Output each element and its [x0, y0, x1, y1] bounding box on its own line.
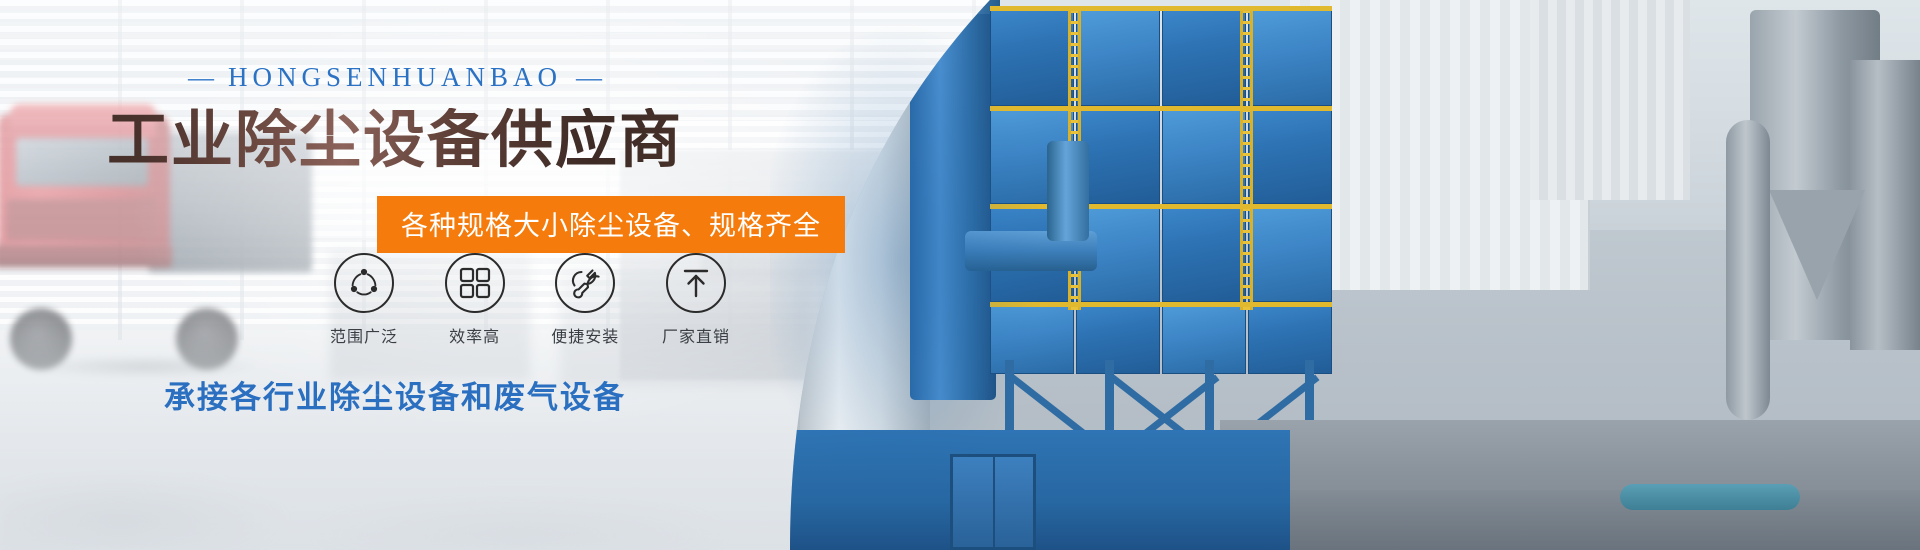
up-arrow-icon [666, 253, 726, 313]
feature-label: 厂家直销 [650, 323, 742, 347]
wrench-icon [555, 253, 615, 313]
brand-eyebrow-text: HONGSENHUANBAO [228, 62, 562, 92]
filter-box [1162, 206, 1246, 302]
feature-list: 范围广泛 效率高 [318, 253, 742, 347]
dash-right-icon: — [562, 63, 616, 92]
feature-item-factory-direct[interactable]: 厂家直销 [650, 253, 742, 347]
concrete-apron-shade [1220, 490, 1920, 550]
grid-squares-icon [445, 253, 505, 313]
brand-eyebrow: —HONGSENHUANBAO— [0, 62, 820, 93]
blue-duct-elbow [965, 175, 1095, 295]
yellow-handrail [990, 106, 1332, 111]
tagline: 承接各行业除尘设备和废气设备 [0, 372, 820, 417]
filter-box [1248, 10, 1332, 106]
teal-pipe [1620, 484, 1800, 510]
duct-vertical [1047, 141, 1089, 241]
filter-box [1076, 10, 1160, 106]
feature-item-efficiency[interactable]: 效率高 [429, 253, 521, 347]
dust-collector-plant-photo [790, 0, 1920, 550]
filter-box [1248, 108, 1332, 204]
feature-label: 效率高 [429, 323, 521, 347]
feature-item-scope[interactable]: 范围广泛 [318, 253, 410, 347]
subtitle-badge: 各种规格大小除尘设备、规格齐全 [377, 196, 845, 253]
filter-box [1248, 206, 1332, 302]
white-factory-building-2 [1530, 0, 1690, 200]
dash-left-icon: — [174, 63, 228, 92]
page-title: 工业除尘设备供应商 [0, 108, 820, 173]
right-duct-pipe [1726, 120, 1770, 420]
plant-door [950, 454, 1036, 550]
yellow-handrail [990, 6, 1332, 11]
feature-label: 范围广泛 [318, 323, 410, 347]
blue-base-wall [790, 430, 1290, 550]
network-nodes-icon [334, 253, 394, 313]
filter-box [1162, 10, 1246, 106]
feature-label: 便捷安装 [539, 323, 631, 347]
yellow-ladder [1240, 10, 1253, 310]
filter-box [1162, 108, 1246, 204]
feature-item-installation[interactable]: 便捷安装 [539, 253, 631, 347]
banner-content: —HONGSENHUANBAO— 工业除尘设备供应商 各种规格大小除尘设备、规格… [0, 0, 820, 550]
silo-cone-hopper [1769, 190, 1865, 300]
filter-box [990, 10, 1074, 106]
hero-banner: —HONGSENHUANBAO— 工业除尘设备供应商 各种规格大小除尘设备、规格… [0, 0, 1920, 550]
